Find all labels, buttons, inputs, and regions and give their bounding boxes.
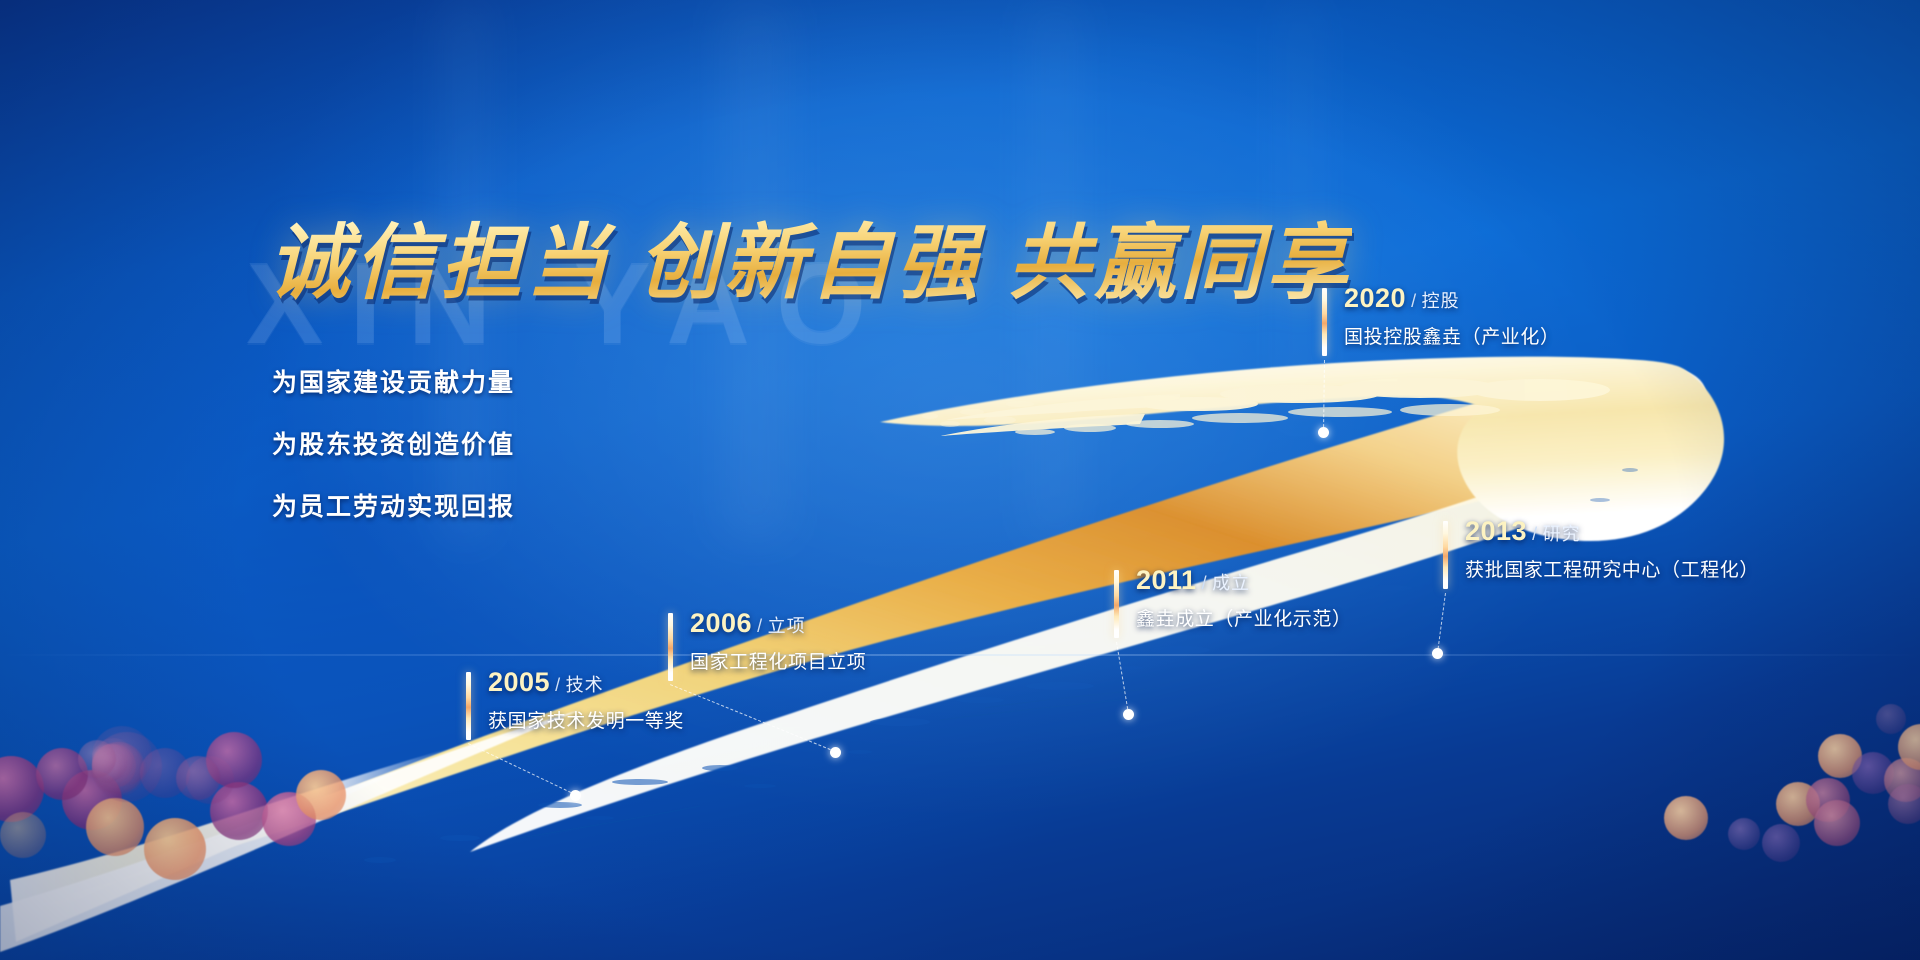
bokeh-light <box>1728 818 1760 850</box>
milestone-bar-icon <box>1114 570 1119 638</box>
slogan-line-2: 为股东投资创造价值 <box>272 425 515 461</box>
milestone-year-value: 2006 <box>690 608 752 638</box>
bokeh-light <box>176 756 220 800</box>
milestone-dot[interactable] <box>1318 427 1329 438</box>
bokeh-light <box>0 812 46 858</box>
bokeh-light <box>296 770 346 820</box>
milestone-year: 2005/技术 <box>488 667 604 698</box>
bokeh-light <box>1876 704 1906 734</box>
milestone-separator: / <box>1197 573 1213 593</box>
bokeh-light <box>1762 824 1800 862</box>
milestone-description: 获国家技术发明一等奖 <box>488 706 684 733</box>
bokeh-light <box>78 740 116 778</box>
milestone-description: 鑫垚成立（产业化示范） <box>1136 604 1352 631</box>
milestone-year-value: 2011 <box>1136 565 1197 595</box>
bokeh-light <box>1664 796 1708 840</box>
headline-part-3: 共赢同享 <box>1008 215 1352 311</box>
milestone-bar-icon <box>1443 521 1448 589</box>
milestone-bar-icon <box>668 613 673 681</box>
milestone-bar-icon <box>466 672 471 740</box>
horizon-line <box>0 654 1920 656</box>
milestone-year: 2006/立项 <box>690 608 806 639</box>
bokeh-light <box>144 818 206 880</box>
headline-part-2: 创新自强 <box>638 215 982 311</box>
milestone-separator: / <box>752 616 768 636</box>
milestone-dot[interactable] <box>1432 648 1443 659</box>
milestone-tag: 控股 <box>1422 291 1460 311</box>
milestone-dot[interactable] <box>570 790 581 801</box>
milestone-year-value: 2013 <box>1465 516 1527 546</box>
milestone-tag: 研究 <box>1543 524 1581 544</box>
milestone-separator: / <box>1527 524 1543 544</box>
milestone-separator: / <box>1406 291 1422 311</box>
milestone-description: 国家工程化项目立项 <box>690 647 866 674</box>
milestone-dot[interactable] <box>1123 709 1134 720</box>
slogan-line-3: 为员工劳动实现回报 <box>272 487 515 523</box>
page-title: 诚信担当创新自强共赢同享 <box>268 196 1352 315</box>
bokeh-light <box>1814 800 1860 846</box>
bokeh-light <box>1888 784 1920 824</box>
milestone-year-value: 2020 <box>1344 283 1406 313</box>
headline-part-1: 诚信担当 <box>268 215 612 311</box>
poster-canvas: XIN YAO 诚信担当创新自强共赢同享 为国家建设贡献力量 为股东投资创造价值… <box>0 0 1920 960</box>
slogan-line-1: 为国家建设贡献力量 <box>272 363 515 399</box>
milestone-separator: / <box>550 675 566 695</box>
milestone-dot[interactable] <box>830 747 841 758</box>
milestone-tag: 技术 <box>566 675 604 695</box>
milestone-bar-icon <box>1322 288 1327 356</box>
milestone-year: 2020/控股 <box>1344 283 1460 314</box>
milestone-tag: 成立 <box>1212 573 1250 593</box>
milestone-year-value: 2005 <box>488 667 550 697</box>
milestone-year: 2013/研究 <box>1465 516 1581 547</box>
milestone-tag: 立项 <box>768 616 806 636</box>
milestone-year: 2011/成立 <box>1136 565 1250 596</box>
bokeh-light <box>86 798 144 856</box>
milestone-description: 国投控股鑫垚（产业化） <box>1344 322 1560 349</box>
milestone-description: 获批国家工程研究中心（工程化） <box>1465 555 1759 582</box>
